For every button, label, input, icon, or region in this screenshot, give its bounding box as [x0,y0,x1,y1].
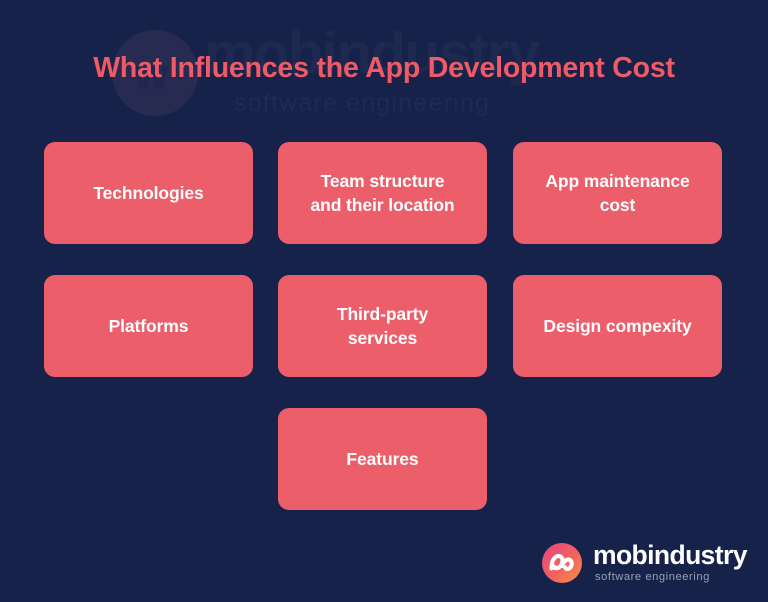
factor-card-label: Platforms [109,314,189,338]
factor-card-team-structure[interactable]: Team structure and their location [278,142,487,244]
mobindustry-circle-logo-icon [541,542,583,584]
factor-card-label: Technologies [93,181,203,205]
footer-brand-tagline: software engineering [595,571,747,584]
footer-brand-logo[interactable]: mobindustry software engineering [541,540,747,588]
page-title: What Influences the App Development Cost [0,52,768,85]
footer-brand-name: mobindustry [593,540,747,570]
factor-card-label: Design compexity [543,314,691,338]
factor-card-design-complexity[interactable]: Design compexity [513,275,722,377]
factor-card-label: Features [346,447,418,471]
factor-card-technologies[interactable]: Technologies [44,142,253,244]
factor-card-label: Third-party services [337,302,428,350]
infographic-canvas: w mobindustry software engineering What … [0,0,768,602]
watermark-brand-tagline: software engineering [234,88,490,118]
factor-card-platforms[interactable]: Platforms [44,275,253,377]
factor-card-app-maintenance-cost[interactable]: App maintenance cost [513,142,722,244]
factor-card-label: Team structure and their location [310,169,454,217]
factor-card-grid: Technologies Team structure and their lo… [44,142,724,512]
factor-card-third-party-services[interactable]: Third-party services [278,275,487,377]
factor-card-features[interactable]: Features [278,408,487,510]
footer-brand-text: mobindustry software engineering [593,540,747,584]
factor-card-label: App maintenance cost [545,169,689,217]
